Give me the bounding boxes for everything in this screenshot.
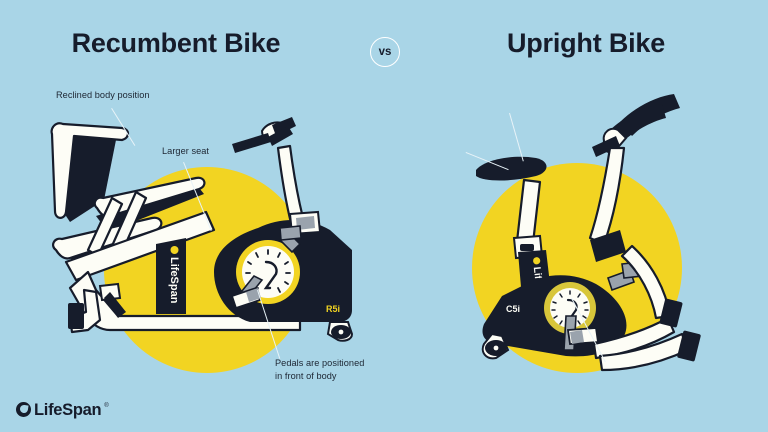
lifespan-logo-text: LifeSpan [34,402,101,419]
annotation-larger-seat: Larger seat [162,145,209,158]
upright-bike-illustration: LifeSpan [384,0,768,432]
model-label-r5i: R5i [326,304,340,314]
vs-badge: vs [370,37,400,67]
infographic-canvas: Recumbent Bike [0,0,768,432]
panel-recumbent-bike: Recumbent Bike [0,0,384,432]
model-label-c5i: C5i [506,304,520,314]
lifespan-logo: LifeSpan ® [16,402,109,419]
annotation-reclined-body-position: Reclined body position [56,89,150,102]
lifespan-circle-swoosh-icon [16,402,31,417]
panel-upright-bike: Upright Bike LifeSpan [384,0,768,432]
vs-badge-label: vs [379,46,392,58]
registered-trademark-symbol: ® [104,403,108,409]
annotation-pedals-front-of-body: Pedals are positioned in front of body [275,357,364,384]
svg-text:LifeSpan: LifeSpan [168,257,180,304]
